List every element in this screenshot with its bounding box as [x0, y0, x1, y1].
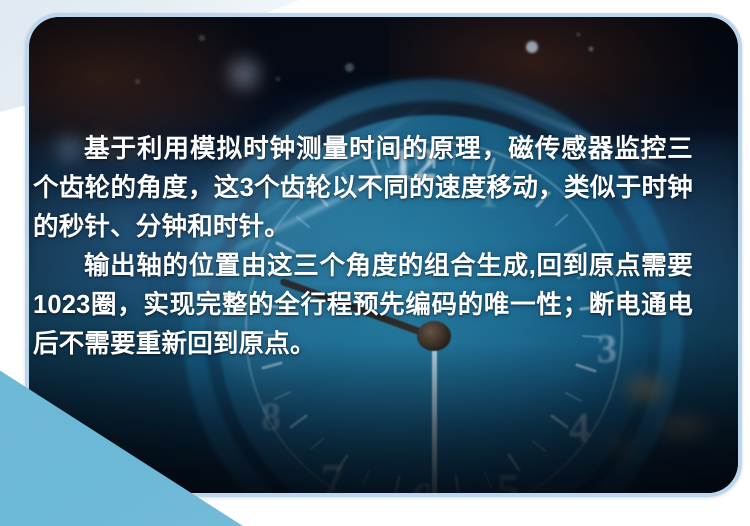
paragraph-2: 输出轴的位置由这三个角度的组合生成,回到原点需要1023圈，实现完整的全行程预先… [33, 247, 693, 364]
body-text-block: 基于利用模拟时钟测量时间的原理，磁传感器监控三个齿轮的角度，这3个齿轮以不同的速… [33, 130, 693, 364]
paragraph-1: 基于利用模拟时钟测量时间的原理，磁传感器监控三个齿轮的角度，这3个齿轮以不同的速… [33, 130, 693, 247]
slide-canvas: 12 3 4 5 6 7 8 1 [0, 0, 750, 526]
